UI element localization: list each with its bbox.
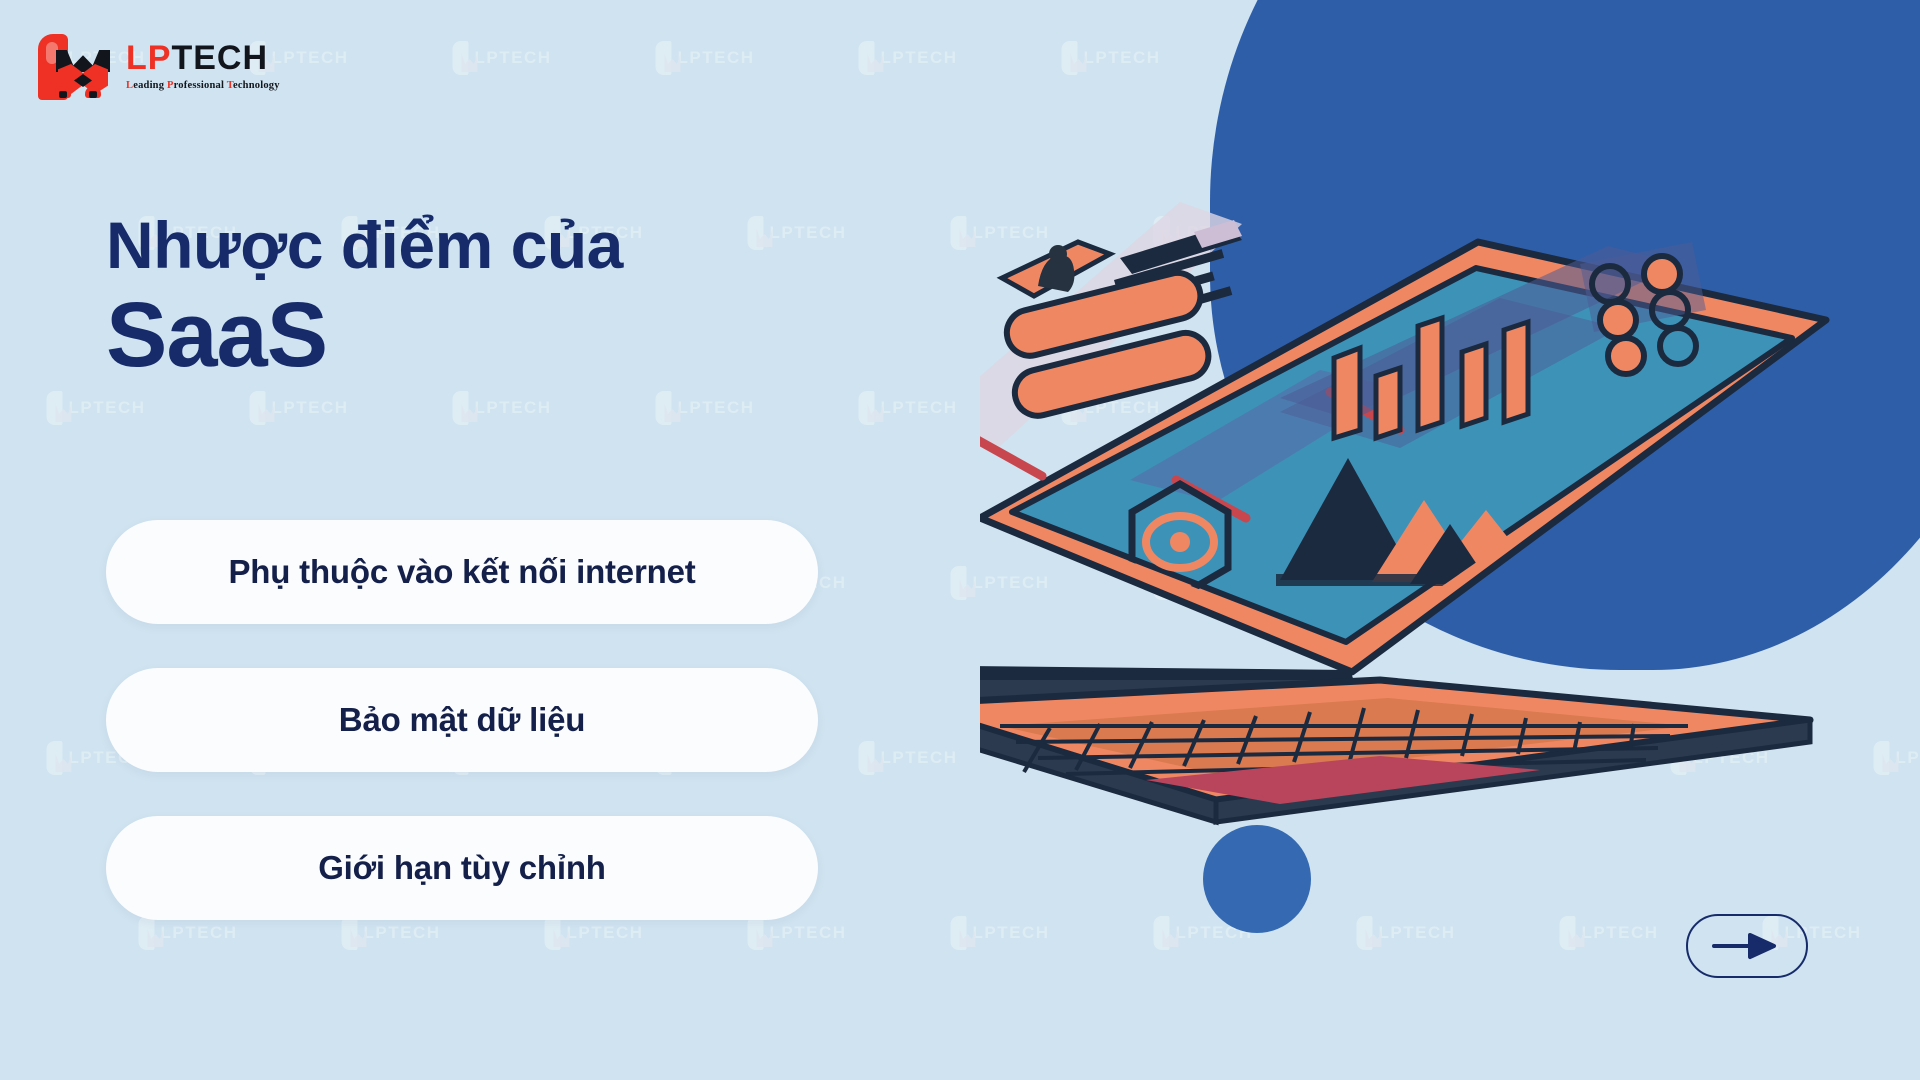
watermark-label: LPTECH	[1582, 923, 1659, 943]
headline-line-2: SaaS	[106, 287, 623, 384]
lptech-watermark-icon: LPTECH	[1874, 741, 1920, 775]
watermark-mark-icon	[453, 41, 469, 75]
brand-logo[interactable]: LPTECH Leading Professional Technology	[30, 28, 280, 100]
page-title: Nhược điểm của SaaS	[106, 210, 623, 384]
brand-name-tech: TECH	[171, 39, 268, 77]
watermark-mark-icon	[250, 391, 266, 425]
brand-tagline: Leading Professional Technology	[126, 80, 280, 91]
watermark-label: LPTECH	[69, 398, 146, 418]
watermark-label: LPTECH	[475, 398, 552, 418]
lptech-watermark-icon: LPTECH	[859, 741, 958, 775]
card-label: Phụ thuộc vào kết nối internet	[228, 553, 695, 591]
watermark-label: LPTECH	[881, 48, 958, 68]
lptech-watermark-icon: LPTECH	[859, 391, 958, 425]
watermark-mark-icon	[1874, 741, 1890, 775]
next-slide-button[interactable]	[1686, 914, 1808, 978]
watermark-label: LPTECH	[881, 398, 958, 418]
watermark-mark-icon	[453, 391, 469, 425]
watermark-mark-icon	[859, 391, 875, 425]
brand-logo-text: LPTECH Leading Professional Technology	[126, 37, 280, 91]
lptech-watermark-icon: LPTECH	[859, 41, 958, 75]
list-item[interactable]: Phụ thuộc vào kết nối internet	[106, 520, 818, 624]
headline-line-1: Nhược điểm của	[106, 210, 623, 281]
watermark-label: LPTECH	[770, 223, 847, 243]
watermark-mark-icon	[951, 216, 967, 250]
background-circle-dot	[1203, 825, 1311, 933]
watermark-label: LPTECH	[678, 48, 755, 68]
watermark-label: LPTECH	[678, 398, 755, 418]
watermark-label: LPTECH	[1379, 923, 1456, 943]
watermark-label: LPTECH	[272, 398, 349, 418]
lptech-watermark-icon: LPTECH	[453, 41, 552, 75]
lptech-watermark-icon: LPTECH	[453, 391, 552, 425]
watermark-mark-icon	[859, 741, 875, 775]
arrow-right-icon	[1712, 929, 1782, 963]
slide-canvas: LPTECHLPTECHLPTECHLPTECHLPTECHLPTECHLPTE…	[0, 0, 1920, 1080]
lptech-watermark-icon: LPTECH	[1357, 916, 1456, 950]
watermark-mark-icon	[47, 391, 63, 425]
lptech-watermark-icon: LPTECH	[47, 391, 146, 425]
brand-name: LPTECH	[126, 41, 280, 75]
watermark-label: LPTECH	[1896, 748, 1920, 768]
lptech-watermark-icon: LPTECH	[748, 216, 847, 250]
card-label: Bảo mật dữ liệu	[339, 701, 585, 739]
watermark-mark-icon	[951, 566, 967, 600]
drawback-card-list: Phụ thuộc vào kết nối internet Bảo mật d…	[106, 520, 818, 964]
watermark-mark-icon	[1154, 916, 1170, 950]
card-label: Giới hạn tùy chỉnh	[318, 849, 606, 887]
list-item[interactable]: Giới hạn tùy chỉnh	[106, 816, 818, 920]
watermark-mark-icon	[1357, 916, 1373, 950]
lptech-watermark-icon: LPTECH	[951, 916, 1050, 950]
watermark-mark-icon	[1560, 916, 1576, 950]
watermark-mark-icon	[1062, 41, 1078, 75]
list-item[interactable]: Bảo mật dữ liệu	[106, 668, 818, 772]
watermark-label: LPTECH	[973, 923, 1050, 943]
watermark-mark-icon	[656, 41, 672, 75]
lptech-fox-logo-icon	[30, 28, 116, 100]
lptech-watermark-icon: LPTECH	[1560, 916, 1659, 950]
watermark-label: LPTECH	[272, 48, 349, 68]
saas-laptop-illustration	[980, 180, 1840, 840]
watermark-mark-icon	[47, 741, 63, 775]
watermark-label: LPTECH	[475, 48, 552, 68]
watermark-label: LPTECH	[1084, 48, 1161, 68]
watermark-mark-icon	[748, 216, 764, 250]
watermark-mark-icon	[859, 41, 875, 75]
watermark-label: LPTECH	[881, 748, 958, 768]
watermark-mark-icon	[656, 391, 672, 425]
watermark-mark-icon	[951, 916, 967, 950]
lptech-watermark-icon: LPTECH	[656, 391, 755, 425]
lptech-watermark-icon: LPTECH	[1062, 41, 1161, 75]
lptech-watermark-icon: LPTECH	[656, 41, 755, 75]
lptech-watermark-icon: LPTECH	[250, 391, 349, 425]
brand-name-lp: LP	[126, 39, 171, 77]
